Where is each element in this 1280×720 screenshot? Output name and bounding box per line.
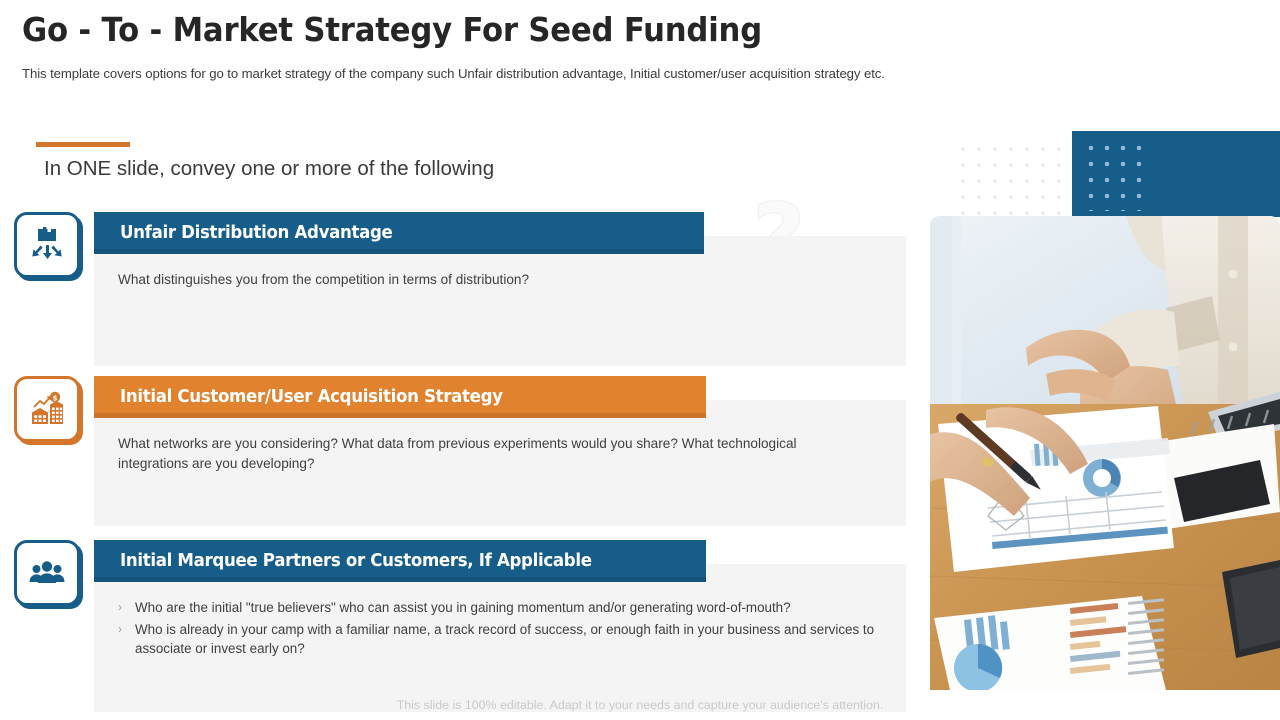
list-item-text: Who are the initial "true believers" who… bbox=[135, 598, 878, 617]
decorative-dot-grid-blue bbox=[1080, 137, 1146, 211]
people-group-icon bbox=[14, 540, 80, 606]
decorative-dot-grid bbox=[952, 138, 1076, 216]
card-description: What networks are you considering? What … bbox=[118, 434, 830, 473]
card-header-shade bbox=[94, 413, 706, 418]
card-header-shade bbox=[94, 577, 706, 582]
section-heading: In ONE slide, convey one or more of the … bbox=[44, 157, 494, 181]
page-title: Go - To - Market Strategy For Seed Fundi… bbox=[22, 10, 762, 49]
footer-note: This slide is 100% editable. Adapt it to… bbox=[0, 698, 1280, 712]
distribution-box-icon bbox=[14, 212, 80, 278]
list-item-text: Who is already in your camp with a famil… bbox=[135, 620, 878, 658]
list-item: › Who is already in your camp with a fam… bbox=[118, 620, 878, 658]
card-bullet-list: › Who are the initial "true believers" w… bbox=[118, 598, 878, 661]
card-body-panel bbox=[94, 236, 906, 366]
business-meeting-photo bbox=[930, 216, 1280, 690]
business-growth-icon: $ bbox=[14, 376, 80, 442]
card-header-bar[interactable]: Unfair Distribution Advantage bbox=[94, 212, 704, 254]
card-description: What distinguishes you from the competit… bbox=[118, 270, 858, 290]
list-item: › Who are the initial "true believers" w… bbox=[118, 598, 878, 617]
card-header-bar[interactable]: Initial Marquee Partners or Customers, I… bbox=[94, 540, 706, 582]
card-title: Initial Marquee Partners or Customers, I… bbox=[120, 551, 592, 571]
card-title: Initial Customer/User Acquisition Strate… bbox=[120, 387, 503, 407]
page-subtitle: This template covers options for go to m… bbox=[22, 66, 885, 81]
card-title: Unfair Distribution Advantage bbox=[120, 223, 393, 243]
card-header-shade bbox=[94, 249, 704, 254]
chevron-right-icon: › bbox=[118, 620, 135, 658]
accent-bar bbox=[36, 142, 130, 147]
card-header-bar[interactable]: Initial Customer/User Acquisition Strate… bbox=[94, 376, 706, 418]
decorative-blue-panel bbox=[1072, 131, 1280, 217]
svg-text:$: $ bbox=[53, 394, 58, 402]
slide-root: Go - To - Market Strategy For Seed Fundi… bbox=[0, 0, 1280, 720]
chevron-right-icon: › bbox=[118, 598, 135, 617]
